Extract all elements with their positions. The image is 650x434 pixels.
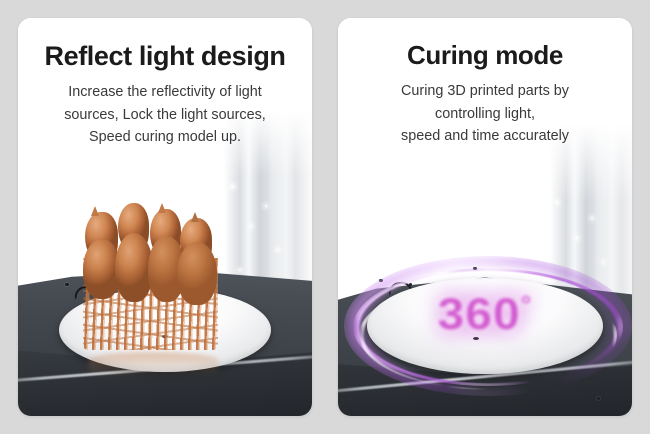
printed-resin-model xyxy=(83,200,218,350)
card-description: Increase the reflectivity of light sourc… xyxy=(28,81,302,149)
model-body xyxy=(177,242,216,305)
sparkle-icon xyxy=(265,205,267,207)
page-title: Curing mode xyxy=(348,42,622,69)
sparkle-icon xyxy=(556,201,559,204)
description-line-3: Speed curing model up. xyxy=(28,126,302,149)
description-line-1: Curing 3D printed parts by xyxy=(348,80,622,103)
model-crest xyxy=(191,212,199,222)
model-crest xyxy=(91,206,99,216)
card-text-block: Curing mode Curing 3D printed parts by c… xyxy=(338,18,632,148)
page-title: Reflect light design xyxy=(28,42,302,70)
card-description: Curing 3D printed parts by controlling l… xyxy=(348,80,622,148)
description-line-3: speed and time accurately xyxy=(348,125,622,148)
model-reflection xyxy=(89,352,218,378)
description-line-2: controlling light, xyxy=(348,103,622,126)
sparkle-icon xyxy=(221,241,223,243)
turntable-disc xyxy=(367,278,602,374)
description-line-2: sources, Lock the light sources, xyxy=(28,104,302,127)
sparkle-icon xyxy=(277,249,279,251)
description-line-1: Increase the reflectivity of light xyxy=(28,81,302,104)
sparkle-icon xyxy=(239,269,241,271)
promo-banner: Reflect light design Increase the reflec… xyxy=(0,0,650,434)
base-screw xyxy=(65,283,69,287)
sparkle-icon xyxy=(591,217,593,219)
sparkle-icon xyxy=(231,185,234,188)
model-crest xyxy=(158,203,166,213)
feature-card-curing-mode[interactable]: Curing mode Curing 3D printed parts by c… xyxy=(338,18,632,416)
feature-card-reflect-light-design[interactable]: Reflect light design Increase the reflec… xyxy=(18,18,312,416)
card-text-block: Reflect light design Increase the reflec… xyxy=(18,18,312,149)
sparkle-icon xyxy=(544,257,546,259)
